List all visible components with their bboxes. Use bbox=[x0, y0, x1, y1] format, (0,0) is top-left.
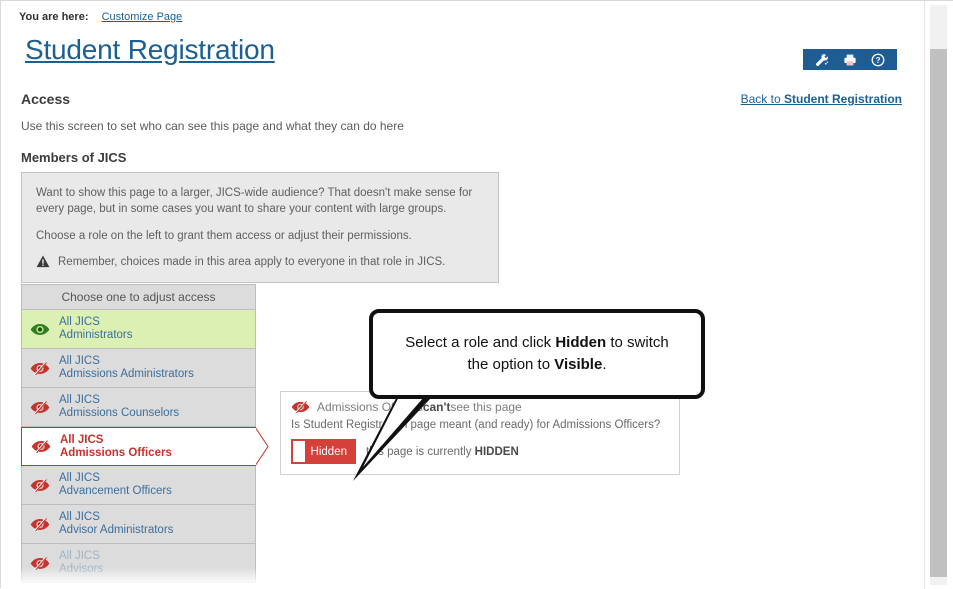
eye-visible-icon bbox=[30, 323, 52, 336]
back-link-prefix: Back to bbox=[741, 92, 784, 106]
eye-hidden-icon bbox=[291, 401, 310, 413]
help-question-icon[interactable]: ? bbox=[864, 49, 892, 70]
eye-hidden-icon bbox=[30, 401, 52, 414]
role-row-advisors[interactable]: All JICS Advisors bbox=[22, 544, 255, 583]
vertical-scrollbar[interactable] bbox=[924, 1, 953, 589]
toggle-knob bbox=[293, 441, 305, 462]
instruction-callout: Select a role and click Hidden to switch… bbox=[369, 309, 705, 399]
role-line-1: All JICS bbox=[59, 472, 100, 484]
role-row-admissions-officers[interactable]: All JICS Admissions Officers bbox=[21, 427, 256, 466]
toolbar: ? bbox=[803, 49, 897, 70]
role-line-2: Administrators bbox=[59, 329, 133, 342]
role-line-1: All JICS bbox=[59, 550, 100, 562]
breadcrumb-link-customize-page[interactable]: Customize Page bbox=[102, 11, 183, 23]
info-paragraph-2: Choose a role on the left to grant them … bbox=[36, 228, 484, 244]
role-line-2: Advisor Administrators bbox=[59, 524, 173, 537]
svg-text:?: ? bbox=[876, 56, 881, 65]
role-line-1: All JICS bbox=[60, 434, 103, 446]
content-area: You are here: Customize Page Student Reg… bbox=[1, 1, 926, 589]
role-line-1: All JICS bbox=[59, 316, 100, 328]
warning-triangle-icon bbox=[36, 255, 50, 273]
eye-hidden-icon bbox=[31, 440, 53, 453]
callout-text-part1: Select a role and click bbox=[405, 334, 555, 351]
role-row-advisor-administrators[interactable]: All JICS Advisor Administrators bbox=[22, 505, 255, 544]
members-heading: Members of JICS bbox=[21, 150, 126, 165]
role-row-text: All JICS Admissions Administrators bbox=[59, 355, 194, 381]
callout-bold-hidden: Hidden bbox=[555, 334, 606, 351]
access-description: Use this screen to set who can see this … bbox=[21, 119, 404, 133]
page-root: You are here: Customize Page Student Reg… bbox=[0, 0, 953, 588]
role-line-1: All JICS bbox=[59, 511, 100, 523]
access-heading: Access bbox=[21, 91, 70, 107]
role-line-1: All JICS bbox=[59, 394, 100, 406]
role-row-text: All JICS Advancement Officers bbox=[59, 472, 172, 498]
role-row-admissions-counselors[interactable]: All JICS Admissions Counselors bbox=[22, 388, 255, 427]
back-to-page-link[interactable]: Back to Student Registration bbox=[741, 92, 902, 106]
callout-text: Select a role and click Hidden to switch… bbox=[395, 332, 679, 376]
role-list: Choose one to adjust access All JICS Adm… bbox=[21, 284, 256, 583]
selected-row-pointer-icon bbox=[255, 427, 268, 466]
info-box: Want to show this page to a larger, JICS… bbox=[21, 172, 499, 283]
role-row-administrators[interactable]: All JICS Administrators bbox=[22, 310, 255, 349]
role-row-admissions-administrators[interactable]: All JICS Admissions Administrators bbox=[22, 349, 255, 388]
role-row-text: All JICS Admissions Officers bbox=[60, 434, 172, 460]
page-title[interactable]: Student Registration bbox=[25, 34, 275, 66]
info-warning-text: Remember, choices made in this area appl… bbox=[58, 254, 445, 270]
eye-hidden-icon bbox=[30, 362, 52, 375]
callout-bold-visible: Visible bbox=[554, 356, 602, 373]
scrollbar-thumb[interactable] bbox=[930, 49, 947, 577]
role-line-2: Admissions Counselors bbox=[59, 407, 179, 420]
role-row-text: All JICS Admissions Counselors bbox=[59, 394, 179, 420]
info-paragraph-1: Want to show this page to a larger, JICS… bbox=[36, 185, 484, 218]
callout-text-part3: . bbox=[602, 356, 606, 373]
eye-hidden-icon bbox=[30, 479, 52, 492]
role-line-2: Admissions Officers bbox=[60, 447, 172, 460]
role-row-text: All JICS Administrators bbox=[59, 316, 133, 342]
role-line-2: Advisors bbox=[59, 563, 103, 576]
eye-hidden-icon bbox=[30, 557, 52, 570]
role-line-2: Admissions Administrators bbox=[59, 368, 194, 381]
role-line-1: All JICS bbox=[59, 355, 100, 367]
breadcrumb: You are here: Customize Page bbox=[19, 11, 182, 23]
tools-wrench-icon[interactable] bbox=[808, 49, 836, 70]
eye-hidden-icon bbox=[30, 518, 52, 531]
callout-box: Select a role and click Hidden to switch… bbox=[369, 309, 705, 399]
role-row-advancement-officers[interactable]: All JICS Advancement Officers bbox=[22, 466, 255, 505]
breadcrumb-label: You are here: bbox=[19, 11, 89, 23]
role-row-text: All JICS Advisors bbox=[59, 550, 103, 576]
role-line-2: Advancement Officers bbox=[59, 485, 172, 498]
info-warning-row: Remember, choices made in this area appl… bbox=[36, 254, 484, 272]
role-list-header: Choose one to adjust access bbox=[22, 285, 255, 310]
back-link-target: Student Registration bbox=[784, 92, 902, 106]
role-row-text: All JICS Advisor Administrators bbox=[59, 511, 173, 537]
printer-icon[interactable] bbox=[836, 49, 864, 70]
